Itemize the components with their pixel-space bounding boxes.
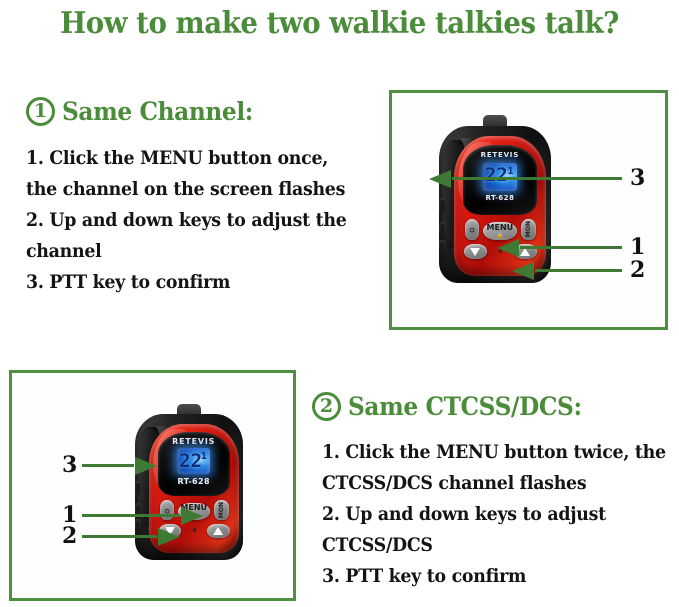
mon-icon: MON [525,221,532,237]
step-line: channel [26,236,347,267]
callout-number-2: 2 [62,525,77,547]
power-icon: ⏻ [468,226,476,232]
step-line: 2. Up and down keys to adjust the [26,205,347,236]
power-icon: ⏻ [163,507,171,513]
walkie-talkie-top-right: RETEVIS 22 1 RT-628 ⏻ MENU 🔒 [434,117,556,292]
section-1-number: 1 [26,97,55,126]
step-line: 1. Click the MENU button once, [26,143,347,174]
mon-icon: MON [218,502,225,518]
section-1-steps: 1. Click the MENU button once, the chann… [26,143,367,298]
lcd-sub-value: 1 [507,167,513,177]
infographic-page: How to make two walkie talkies talk? 1 S… [0,0,679,607]
up-key[interactable] [207,524,229,538]
step-line: CTCSS/DCS [322,530,666,561]
step-line: 2. Up and down keys to adjust [322,499,666,530]
step-line: 3. PTT key to confirm [26,267,347,298]
walkie-talkie-bottom-left: RETEVIS 22 1 RT-628 ⏻ MENU 🔒 [130,406,248,568]
lcd-screen: 22 1 [177,448,210,474]
photo-bottom-left: RETEVIS 22 1 RT-628 ⏻ MENU 🔒 [9,370,296,601]
chevron-up-icon [213,527,223,535]
callout-number-2: 2 [630,259,645,281]
section-2-title: Same CTCSS/DCS: [348,392,582,421]
model-label: RT-628 [158,477,230,486]
brand-logo: RETEVIS [158,437,230,446]
power-button[interactable]: ⏻ [465,219,480,240]
side-button-secondary[interactable] [439,222,445,233]
callout-arrow-1 [520,246,622,249]
lcd-channel-value: 22 [179,452,202,471]
ptt-side-button[interactable] [135,481,141,496]
brand-logo: RETEVIS [463,151,537,159]
section-1-heading: 1 Same Channel: [26,97,267,126]
side-button-secondary[interactable] [135,503,141,513]
callout-arrow-2 [82,535,157,538]
step-line: CTCSS/DCS channel flashes [322,468,666,499]
callout-number-3: 3 [630,167,645,189]
section-2-heading: 2 Same CTCSS/DCS: [312,392,599,421]
mon-button[interactable]: MON [521,219,536,240]
section-1-title: Same Channel: [62,97,253,126]
menu-button-label: MENU [487,223,514,232]
photo-top-right: RETEVIS 22 1 RT-628 ⏻ MENU 🔒 [389,90,668,330]
callout-arrow-3 [452,177,622,180]
side-button-tertiary[interactable] [135,519,141,529]
callout-arrow-2 [535,269,622,272]
ptt-side-button[interactable] [439,198,445,214]
callout-number-1: 1 [630,236,645,258]
down-key[interactable] [464,244,487,259]
lcd-sub-value: 1 [201,452,207,462]
menu-button[interactable]: MENU 🔒 [483,222,516,240]
section-2-number: 2 [312,392,341,421]
lcd-channel-value: 22 [485,166,508,185]
step-line: 1. Click the MENU button twice, the [322,437,666,468]
front-panel: RETEVIS 22 1 RT-628 [158,432,230,497]
callout-number-3: 3 [62,454,77,476]
mon-button[interactable]: MON [214,500,228,519]
callout-arrow-1 [82,514,180,517]
callout-arrow-3 [82,464,134,467]
section-2-steps: 1. Click the MENU button twice, the CTCS… [322,437,679,592]
step-line: the channel on the screen flashes [26,174,347,205]
side-button-tertiary[interactable] [439,240,445,251]
chevron-down-icon [470,248,480,256]
step-line: 3. PTT key to confirm [322,561,666,592]
microphone-hole [193,528,196,532]
page-title: How to make two walkie talkies talk? [27,6,652,41]
model-label: RT-628 [463,194,537,202]
